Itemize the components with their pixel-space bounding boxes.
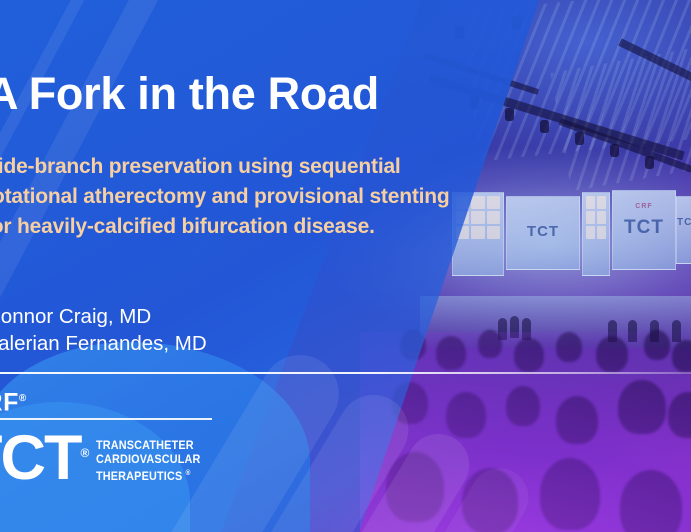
stage-light <box>610 144 619 157</box>
stage-screen-mid <box>582 192 610 276</box>
crf-tct-logo: CRF® TCT® TRANSCATHETER CARDIOVASCULAR T… <box>0 386 274 489</box>
tct-text: TCT <box>0 423 80 493</box>
crf-wordmark: CRF® <box>0 386 274 415</box>
screen-logo-tct: TCT <box>613 217 675 239</box>
author-name: Valerian Fernandes, MD <box>0 330 207 357</box>
tct-tagline: TRANSCATHETER CARDIOVASCULAR THERAPEUTIC… <box>96 440 201 484</box>
crf-text: CRF <box>0 388 19 416</box>
slide-title: A Fork in the Road <box>0 68 379 120</box>
author-name: Connor Craig, MD <box>0 303 207 330</box>
registered-mark-icon: ® <box>80 446 89 460</box>
presentation-title-slide: TCT CRF TCT TCT <box>0 0 691 532</box>
tagline-line-2: CARDIOVASCULAR <box>96 454 201 468</box>
tct-wordmark: TCT® <box>0 422 89 489</box>
stage-light <box>505 108 514 121</box>
slide-subtitle: Side-branch preservation using sequentia… <box>0 152 454 242</box>
stage-light <box>575 132 584 145</box>
registered-mark-icon: ® <box>19 393 27 404</box>
stage-screen-far-right: TCT <box>676 196 691 264</box>
tagline-line-3-text: THERAPEUTICS <box>96 471 182 483</box>
stage-light <box>540 120 549 133</box>
stage-light <box>645 156 654 169</box>
screen-logo-crf: CRF <box>613 203 675 210</box>
registered-mark-icon: ® <box>186 470 191 477</box>
screen-logo-tct: TCT <box>677 217 691 228</box>
stage-screen-right: CRF TCT <box>612 190 676 270</box>
screen-logo-tct: TCT <box>507 223 579 240</box>
horizontal-divider <box>0 372 691 374</box>
tagline-line-1: TRANSCATHETER <box>96 440 201 454</box>
tct-lockup: TCT® TRANSCATHETER CARDIOVASCULAR THERAP… <box>0 422 274 489</box>
stage-screen-center: TCT <box>506 196 580 270</box>
speaker-thumbnail-grid <box>586 196 606 272</box>
author-list: Connor Craig, MD Valerian Fernandes, MD <box>0 303 207 357</box>
tagline-line-3: THERAPEUTICS ® <box>96 467 201 484</box>
logo-divider <box>0 418 212 420</box>
